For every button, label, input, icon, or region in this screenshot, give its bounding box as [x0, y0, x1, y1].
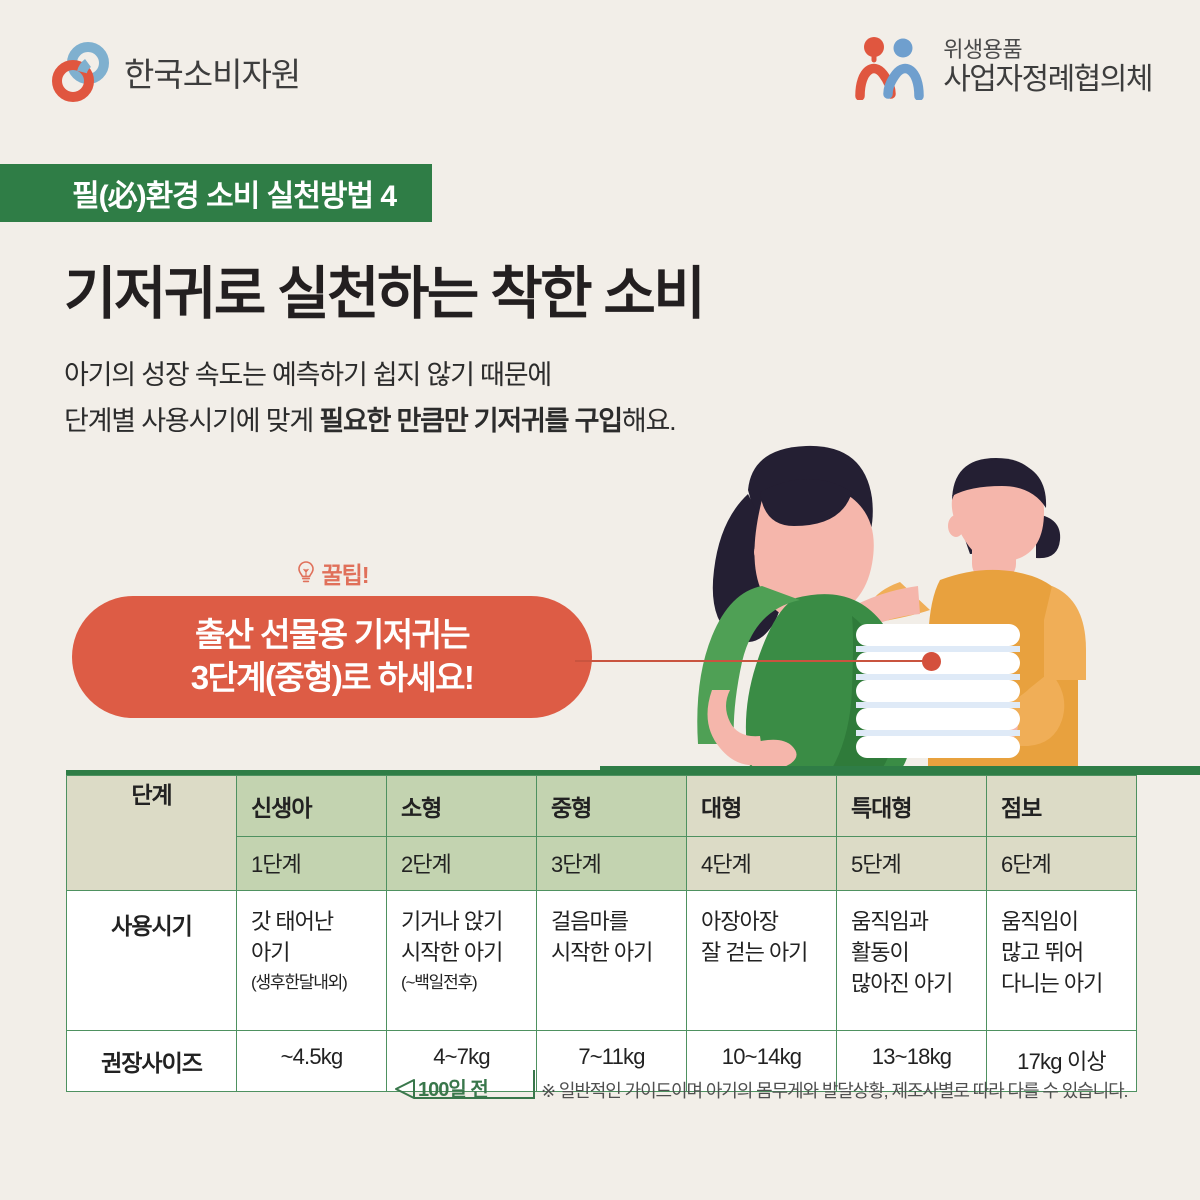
header-size-3: 대형 — [687, 776, 837, 837]
usage-cell-2: 걸음마를시작한 아기 — [537, 891, 687, 1031]
header-size-1: 소형 — [387, 776, 537, 837]
illustration-people-with-diapers — [600, 430, 1200, 775]
kca-wordmark: 한국소비자원 — [124, 48, 300, 96]
header-size-5: 점보 — [987, 776, 1137, 837]
infographic-page: 한국소비자원 위생용품 사업자정례협의체 필(必)환경 소비 실천방법 4 기저… — [0, 0, 1200, 1200]
usage-text-2: 걸음마를시작한 아기 — [551, 909, 652, 965]
association-line1: 위생용품 — [943, 38, 1152, 63]
tip-callout: 꿀팁! 출산 선물용 기저귀는 3단계(중형)로 하세요! — [72, 556, 592, 718]
header-step-2: 3단계 — [537, 837, 687, 891]
header-step-1: 2단계 — [387, 837, 537, 891]
header-stage-label: 단계 — [67, 776, 237, 891]
header-step-4: 5단계 — [837, 837, 987, 891]
header-step-3: 4단계 — [687, 837, 837, 891]
subtitle-line-1: 아기의 성장 속도는 예측하기 쉽지 않기 때문에 — [64, 352, 676, 398]
header-step-5: 6단계 — [987, 837, 1137, 891]
diaper-size-table: 단계 신생아 소형 중형 대형 특대형 점보 1단계 2단계 3단계 4단계 5… — [66, 770, 1136, 1092]
association-logo: 위생용품 사업자정례협의체 — [853, 34, 1152, 100]
table-header-row-size: 단계 신생아 소형 중형 대형 특대형 점보 — [67, 776, 1137, 837]
header: 한국소비자원 위생용품 사업자정례협의체 — [0, 0, 1200, 140]
association-line2: 사업자정례협의체 — [943, 63, 1152, 97]
header-size-4: 특대형 — [837, 776, 987, 837]
subtitle-line2-emphasis: 필요한 만큼만 기저귀를 구입 — [319, 406, 622, 436]
subtitle-line2-pre: 단계별 사용시기에 맞게 — [64, 406, 319, 436]
header-step-0: 1단계 — [237, 837, 387, 891]
lightbulb-icon — [296, 560, 316, 586]
usage-cell-4: 움직임과활동이많아진 아기 — [837, 891, 987, 1031]
days-marker-label: 100일 전 — [418, 1073, 488, 1102]
tip-label-row: 꿀팁! — [72, 556, 592, 590]
usage-cell-0: 갓 태어난아기 (생후한달내외) — [237, 891, 387, 1031]
table-row-usage: 사용시기 갓 태어난아기 (생후한달내외) 기거나 앉기시작한 아기 (~백일전… — [67, 891, 1137, 1031]
ribbon-label: 필(必)환경 소비 실천방법 4 — [72, 171, 396, 215]
tip-line-2: 3단계(중형)로 하세요! — [191, 657, 474, 700]
usage-text-3: 아장아장잘 걷는 아기 — [701, 909, 807, 965]
association-wordmark: 위생용품 사업자정례협의체 — [943, 38, 1152, 96]
tip-line-1: 출산 선물용 기저귀는 — [195, 614, 469, 657]
usage-sub-1: (~백일전후) — [401, 971, 530, 995]
page-subtitle: 아기의 성장 속도는 예측하기 쉽지 않기 때문에 단계별 사용시기에 맞게 필… — [64, 352, 676, 445]
usage-text-4: 움직임과활동이많아진 아기 — [851, 909, 952, 996]
header-size-2: 중형 — [537, 776, 687, 837]
usage-text-0: 갓 태어난아기 — [251, 909, 333, 965]
usage-text-5: 움직임이많고 뛰어다니는 아기 — [1001, 909, 1102, 996]
tip-pill: 출산 선물용 기저귀는 3단계(중형)로 하세요! — [72, 596, 592, 718]
callout-connector-dot — [922, 652, 941, 671]
usage-cell-3: 아장아장잘 걷는 아기 — [687, 891, 837, 1031]
interlocking-rings-logo-icon — [52, 42, 110, 102]
callout-connector-line — [575, 660, 935, 662]
disclaimer-note: ※ 일반적인 가이드이며 아기의 몸무게와 발달상황, 제조사별로 따라 다를 … — [541, 1077, 1127, 1103]
usage-cell-5: 움직임이많고 뛰어다니는 아기 — [987, 891, 1137, 1031]
subtitle-line-2: 단계별 사용시기에 맞게 필요한 만큼만 기저귀를 구입해요. — [64, 398, 676, 444]
usage-text-1: 기거나 앉기시작한 아기 — [401, 909, 502, 965]
footer: 100일 전 ※ 일반적인 가이드이며 아기의 몸무게와 발달상황, 제조사별로… — [66, 1068, 1146, 1128]
page-title: 기저귀로 실천하는 착한 소비 — [64, 248, 703, 330]
row-label-usage: 사용시기 — [67, 891, 237, 1031]
usage-sub-0: (생후한달내외) — [251, 971, 380, 995]
usage-cell-1: 기거나 앉기시작한 아기 (~백일전후) — [387, 891, 537, 1031]
header-size-0: 신생아 — [237, 776, 387, 837]
kca-logo: 한국소비자원 — [52, 42, 300, 102]
section-ribbon: 필(必)환경 소비 실천방법 4 — [0, 164, 432, 222]
tip-label: 꿀팁! — [322, 556, 369, 590]
two-people-logo-icon — [853, 34, 927, 100]
